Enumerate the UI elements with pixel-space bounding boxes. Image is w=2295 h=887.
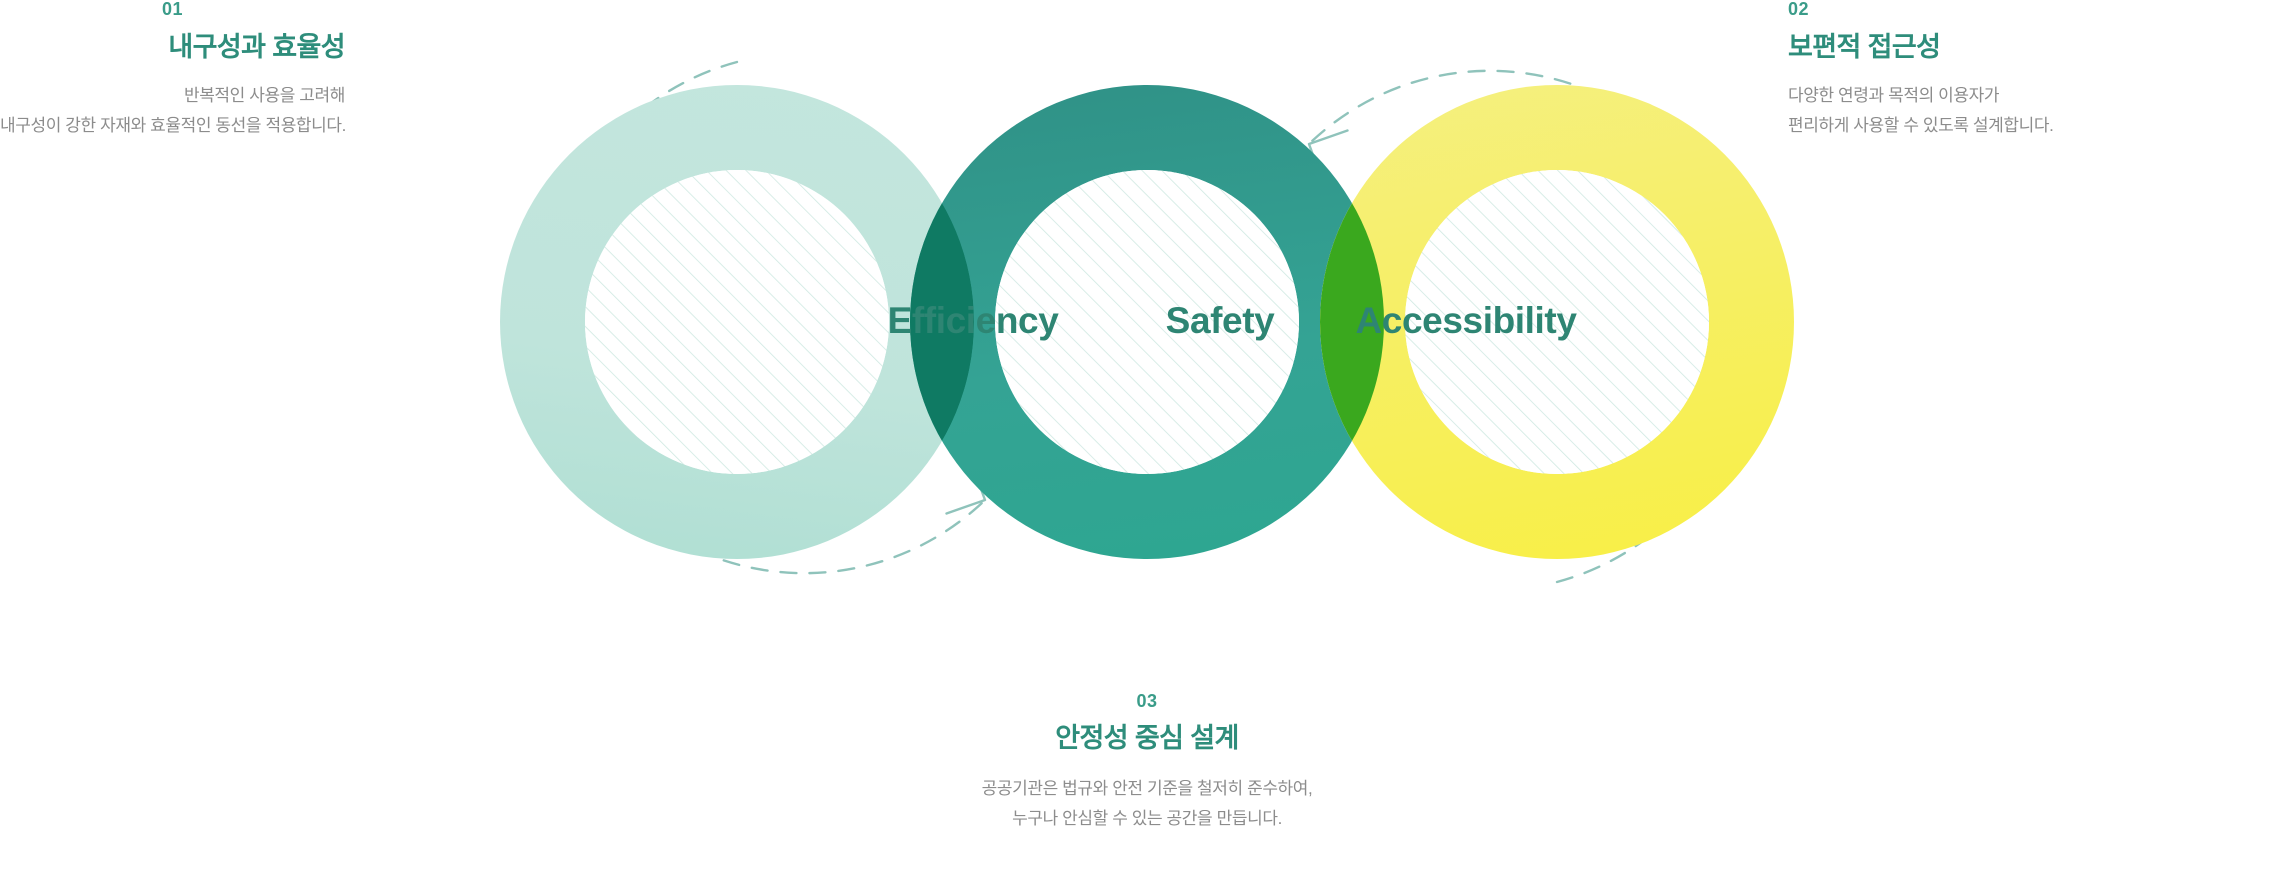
block-03-desc-line-2: 누구나 안심할 수 있는 공간을 만듭니다. <box>897 804 1397 834</box>
block-01-number: 01 <box>0 0 345 18</box>
block-02-desc-line-1: 다양한 연령과 목적의 이용자가 <box>1788 81 2288 111</box>
feature-block-02: 02 보편적 접근성 다양한 연령과 목적의 이용자가 편리하게 사용할 수 있… <box>1788 0 2288 140</box>
block-03-number: 03 <box>897 692 1397 710</box>
triple-ring-diagram: Efficiency Safety Accessibility <box>437 60 1857 680</box>
infographic-page: Efficiency Safety Accessibility 01 내구성과 … <box>0 0 2295 887</box>
block-01-desc-line-1: 반복적인 사용을 고려해 <box>0 81 345 111</box>
block-02-number: 02 <box>1788 0 2288 18</box>
block-01-description: 반복적인 사용을 고려해 내구성이 강한 자재와 효율적인 동선을 적용합니다. <box>0 81 345 141</box>
feature-block-03: 03 안정성 중심 설계 공공기관은 법규와 안전 기준을 철저히 준수하여, … <box>897 692 1397 833</box>
block-03-description: 공공기관은 법규와 안전 기준을 철저히 준수하여, 누구나 안심할 수 있는 … <box>897 774 1397 834</box>
diagram-svg <box>437 60 1857 680</box>
block-03-desc-line-1: 공공기관은 법규와 안전 기준을 철저히 준수하여, <box>897 774 1397 804</box>
block-01-desc-line-2: 내구성이 강한 자재와 효율적인 동선을 적용합니다. <box>0 111 345 141</box>
hatch-accessibility-repair <box>1405 170 1709 474</box>
block-03-title: 안정성 중심 설계 <box>897 722 1397 756</box>
block-02-desc-line-2: 편리하게 사용할 수 있도록 설계합니다. <box>1788 111 2288 141</box>
feature-block-01: 01 내구성과 효율성 반복적인 사용을 고려해 내구성이 강한 자재와 효율적… <box>0 0 345 140</box>
block-02-description: 다양한 연령과 목적의 이용자가 편리하게 사용할 수 있도록 설계합니다. <box>1788 81 2288 141</box>
hatch-safety-repair <box>995 170 1299 474</box>
block-01-title: 내구성과 효율성 <box>0 31 345 65</box>
block-02-title: 보편적 접근성 <box>1788 31 2288 65</box>
